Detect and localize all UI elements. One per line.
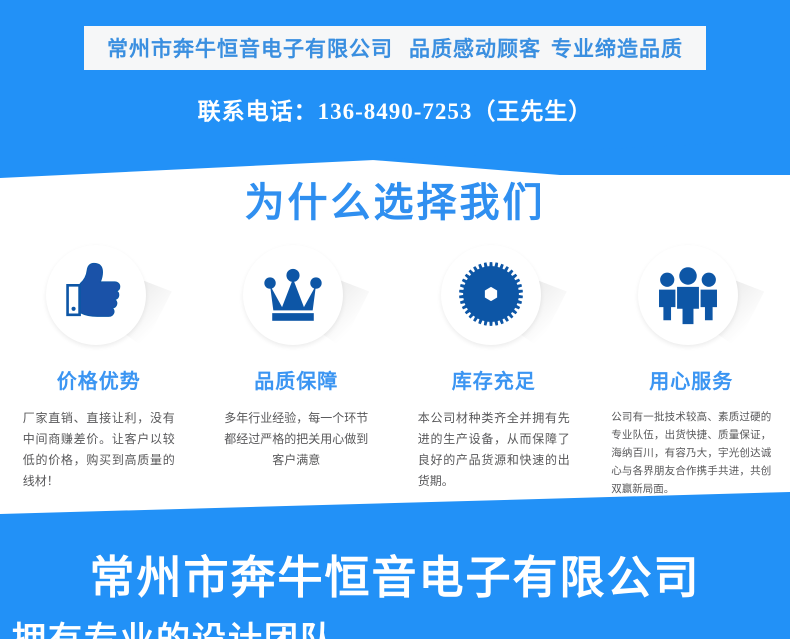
icon-wrap — [635, 245, 747, 351]
feature-title: 库存充足 — [452, 365, 536, 394]
promo-page: 常州市奔牛恒音电子有限公司品质感动顾客专业缔造品质 联系电话：136-8490-… — [0, 0, 790, 639]
name-plate-text: 常州市奔牛恒音电子有限公司品质感动顾客专业缔造品质 — [107, 33, 683, 63]
people-group-icon — [653, 259, 723, 329]
page-title: 为什么选择我们 — [0, 170, 790, 228]
icon-wrap — [43, 245, 155, 351]
plate-company: 常州市奔牛恒音电子有限公司 — [107, 37, 393, 61]
icon-wrap — [438, 245, 550, 351]
icon-wrap — [240, 245, 352, 351]
feature-item-stock: 库存充足 本公司材种类齐全并拥有先进的生产设备，从而保障了良好的产品货源和快速的… — [395, 245, 593, 505]
crown-icon — [258, 259, 328, 329]
plate-slogan-a: 品质感动顾客 — [409, 37, 541, 61]
company-name-plate: 常州市奔牛恒音电子有限公司品质感动顾客专业缔造品质 — [84, 26, 706, 70]
feature-item-price-advantage: 价格优势 厂家直销、直接让利，没有中间商赚差价。让客户以较低的价格，购买到高质量… — [0, 245, 198, 505]
footer-subtitle: 拥有专业的设计团队 — [12, 612, 512, 639]
feature-title: 用心服务 — [649, 365, 733, 394]
feature-list: 价格优势 厂家直销、直接让利，没有中间商赚差价。让客户以较低的价格，购买到高质量… — [0, 245, 790, 505]
feature-title: 价格优势 — [57, 365, 141, 394]
thumbs-up-icon — [61, 259, 131, 329]
feature-body: 多年行业经验，每一个环节都经过严格的把关用心做到客户满意 — [221, 408, 371, 471]
feature-item-service: 用心服务 公司有一批技术较高、素质过硬的专业队伍，出货快捷、质量保证，海纳百川，… — [593, 245, 790, 505]
feature-body: 公司有一批技术较高、素质过硬的专业队伍，出货快捷、质量保证，海纳百川，有容乃大，… — [611, 408, 771, 498]
footer-company-name: 常州市奔牛恒音电子有限公司 — [0, 541, 790, 606]
feature-title: 品质保障 — [254, 365, 338, 394]
feature-item-quality-assurance: 品质保障 多年行业经验，每一个环节都经过严格的把关用心做到客户满意 — [198, 245, 396, 505]
contact-phone-line: 联系电话：136-8490-7253（王先生） — [0, 92, 790, 126]
feature-body: 厂家直销、直接让利，没有中间商赚差价。让客户以较低的价格，购买到高质量的线材！ — [23, 408, 175, 492]
plate-slogan-b: 专业缔造品质 — [551, 37, 683, 61]
feature-body: 本公司材种类齐全并拥有先进的生产设备，从而保障了良好的产品货源和快速的出货期。 — [418, 408, 570, 492]
gear-icon — [456, 259, 526, 329]
